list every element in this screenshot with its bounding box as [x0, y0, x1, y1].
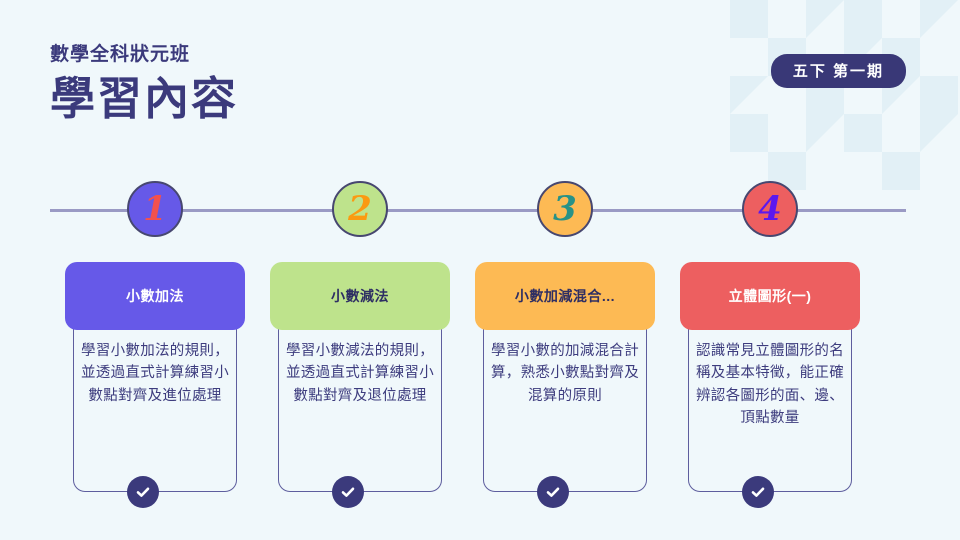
slide-root: 數學全科狀元班 學習內容 五下 第一期 1 2 3 4 小數加法 學習小數加法的… — [0, 0, 960, 540]
card-body-2: 學習小數減法的規則，並透過直式計算練習小數點對齊及退位處理 — [282, 340, 438, 407]
course-subtitle: 數學全科狀元班 — [50, 44, 670, 67]
check-badge-4[interactable] — [742, 476, 774, 508]
card-body-1: 學習小數加法的規則，並透過直式計算練習小數點對齊及進位處理 — [77, 340, 233, 407]
check-icon — [749, 483, 767, 501]
timeline-node-number: 3 — [553, 192, 577, 226]
card-body-3: 學習小數的加減混合計算，熟悉小數點對齊及混算的原則 — [487, 340, 643, 407]
check-badge-2[interactable] — [332, 476, 364, 508]
card-header-2[interactable]: 小數減法 — [270, 262, 450, 330]
check-badge-3[interactable] — [537, 476, 569, 508]
check-icon — [544, 483, 562, 501]
card-title: 小數加減混合... — [515, 286, 615, 306]
card-title: 小數減法 — [331, 286, 389, 306]
check-badge-1[interactable] — [127, 476, 159, 508]
card-header-4[interactable]: 立體圖形(一) — [680, 262, 860, 330]
check-icon — [339, 483, 357, 501]
card-header-1[interactable]: 小數加法 — [65, 262, 245, 330]
timeline-node-number: 2 — [348, 192, 372, 226]
card-title: 小數加法 — [126, 286, 184, 306]
timeline-node-number: 4 — [758, 192, 782, 226]
timeline-node-2[interactable]: 2 — [332, 181, 388, 237]
term-badge: 五下 第一期 — [771, 54, 906, 88]
card-body-4: 認識常見立體圖形的名稱及基本特徵，能正確辨認各圖形的面、邊、頂點數量 — [692, 340, 848, 430]
timeline-node-number: 1 — [143, 192, 167, 226]
header: 數學全科狀元班 學習內容 — [50, 44, 670, 125]
timeline-node-1[interactable]: 1 — [127, 181, 183, 237]
page-title: 學習內容 — [50, 73, 670, 125]
timeline-node-3[interactable]: 3 — [537, 181, 593, 237]
timeline-node-4[interactable]: 4 — [742, 181, 798, 237]
card-header-3[interactable]: 小數加減混合... — [475, 262, 655, 330]
check-icon — [134, 483, 152, 501]
card-title: 立體圖形(一) — [729, 286, 812, 306]
decorative-pattern — [730, 0, 960, 190]
